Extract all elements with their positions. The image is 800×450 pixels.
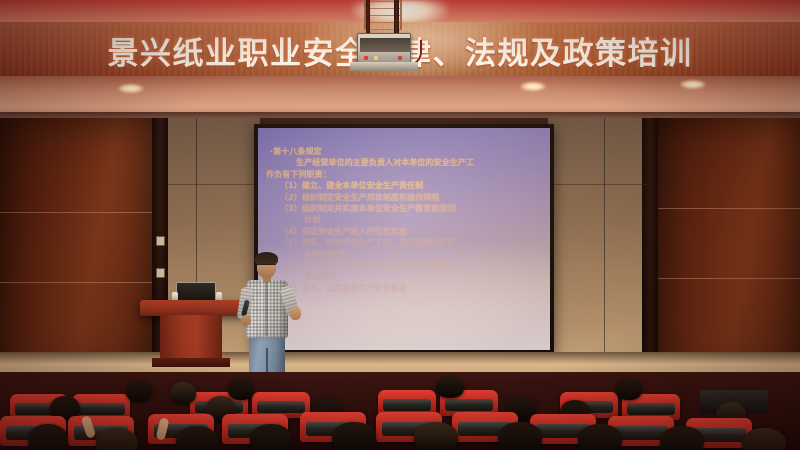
amplifier-faceplate [360, 38, 410, 52]
audience-head [250, 424, 292, 450]
podium-laptop[interactable] [176, 282, 216, 302]
speaker-shirt-placket [265, 281, 268, 336]
audience-head [616, 378, 642, 400]
audience-head [498, 422, 542, 450]
wall-panel-dark-left [0, 118, 152, 380]
projection-screen: ·第十八条规定 生产经营单位的主要负责人对本单位的安全生产工 作负有下列职责： … [258, 128, 550, 350]
audience-head [332, 422, 376, 450]
speaker-hand-left [241, 315, 251, 326]
wall-seam-right-2 [658, 278, 800, 279]
downlight-2 [520, 82, 546, 91]
wall-panel-dark-right [658, 118, 800, 380]
screen-vignette [258, 128, 550, 350]
podium-desktop [140, 300, 246, 316]
audience-head [170, 382, 196, 404]
projection-screen-frame: ·第十八条规定 生产经营单位的主要负责人对本单位的安全生产工 作负有下列职责： … [254, 124, 554, 354]
wall-seam-lightleft [168, 184, 260, 185]
stage-floor-shadow [0, 352, 800, 364]
wall-gap-right [642, 118, 658, 380]
audience-head [176, 426, 218, 450]
audience-head [578, 424, 622, 450]
podium-base [152, 358, 230, 367]
podium-column [160, 315, 222, 363]
audience-head [228, 378, 254, 400]
speaker-hand-right [290, 307, 301, 320]
audience-head [436, 376, 464, 398]
auditorium-photo: 景兴纸业职业安全法律、法规及政策培训 ·第十八条规定 生产经营单位的主要负责人对 [0, 0, 800, 450]
amplifier-led-b [374, 56, 378, 60]
amplifier-led-a [364, 56, 368, 60]
wall-seam-left-2 [0, 282, 152, 283]
audience-head [28, 424, 68, 450]
downlight-1 [118, 84, 144, 93]
glasses-icon [257, 264, 276, 269]
wall-vseam-right [604, 118, 605, 380]
audience-head [96, 428, 138, 450]
amplifier-led-c [398, 56, 402, 60]
audience-area [0, 372, 800, 450]
audience-head [126, 380, 152, 402]
wall-seam-left-1 [0, 212, 152, 213]
downlight-3 [680, 80, 706, 89]
wall-switch-b[interactable] [156, 268, 165, 278]
wall-seam-lightright [548, 184, 648, 185]
amplifier-stand [350, 62, 418, 71]
wall-seam-right-1 [658, 208, 800, 209]
stage-amplifier [357, 33, 411, 63]
wall-switch-a[interactable] [156, 236, 165, 246]
audience-head [414, 422, 458, 450]
audience-head [660, 426, 704, 450]
wall-panel-light-right [548, 118, 648, 380]
audience-head [742, 428, 786, 450]
